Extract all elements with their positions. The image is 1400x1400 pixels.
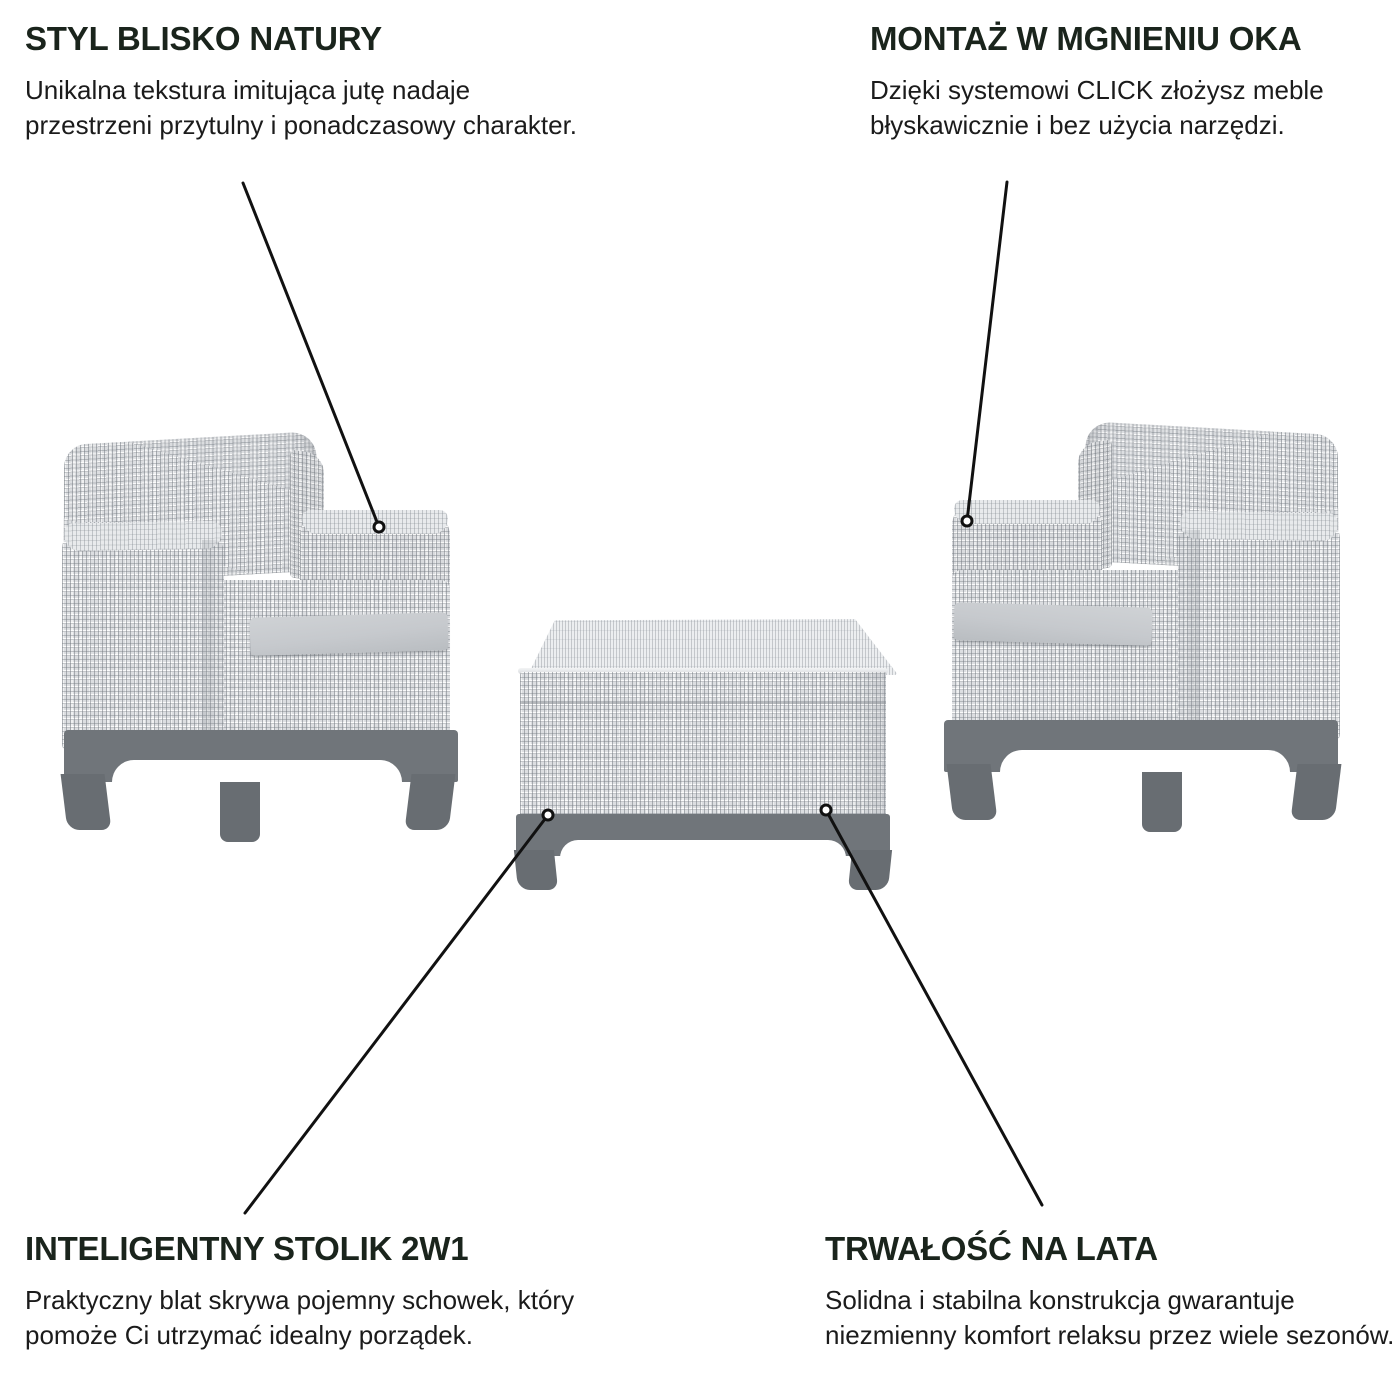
feature-top-left-heading: STYL BLISKO NATURY (25, 22, 585, 57)
feature-top-left: STYL BLISKO NATURY Unikalna tekstura imi… (25, 22, 585, 143)
armchair-left-leg-center (220, 782, 260, 842)
feature-bottom-right-body: Solidna i stabilna konstrukcja gwarantuj… (825, 1283, 1395, 1353)
armchair-left-armrest-near (62, 522, 224, 752)
armchair-right-leg-front-right (947, 764, 998, 820)
armchair-right-armrest-inner-shadow (1174, 530, 1200, 720)
feature-top-left-body: Unikalna tekstura imitująca jutę nadaje … (25, 73, 585, 143)
armchair-left-leg-front-right (405, 774, 456, 830)
coffee-table-side-shadow (844, 672, 886, 818)
coffee-table (508, 618, 898, 883)
feature-bottom-left-body: Praktyczny blat skrywa pojemny schowek, … (25, 1283, 645, 1353)
armchair-right (930, 420, 1350, 820)
armchair-right-cushion (954, 602, 1153, 646)
coffee-table-body (520, 672, 886, 818)
armchair-left-leg-front-left (61, 774, 112, 830)
feature-top-right-body: Dzięki systemowi CLICK złożysz meble bły… (870, 73, 1390, 143)
armchair-left (52, 430, 472, 830)
feature-bottom-right: TRWAŁOŚĆ NA LATA Solidna i stabilna kons… (825, 1232, 1395, 1353)
armchair-left-cushion (250, 612, 449, 656)
coffee-table-leg-left (514, 850, 558, 890)
feature-top-right-heading: MONTAŻ W MGNIENIU OKA (870, 22, 1390, 57)
armchair-left-armrest-inner-shadow (202, 540, 228, 730)
armchair-right-leg-center (1142, 772, 1182, 832)
armchair-right-armrest-near-top (1180, 511, 1338, 542)
infographic-page: STYL BLISKO NATURY Unikalna tekstura imi… (0, 0, 1400, 1400)
feature-bottom-left-heading: INTELIGENTNY STOLIK 2W1 (25, 1232, 645, 1267)
armchair-right-armrest-near (1178, 512, 1340, 742)
coffee-table-base-arch (560, 840, 846, 892)
armchair-right-leg-front-left (1291, 764, 1342, 820)
armchair-left-armrest-far-top (302, 510, 448, 534)
coffee-table-lid-seam (520, 702, 886, 704)
feature-bottom-left: INTELIGENTNY STOLIK 2W1 Praktyczny blat … (25, 1232, 645, 1353)
feature-bottom-right-heading: TRWAŁOŚĆ NA LATA (825, 1232, 1395, 1267)
coffee-table-leg-right (848, 850, 892, 890)
feature-top-right: MONTAŻ W MGNIENIU OKA Dzięki systemowi C… (870, 22, 1390, 143)
product-stage (0, 0, 1400, 1400)
armchair-left-armrest-near-top (64, 521, 222, 552)
armchair-right-armrest-far-top (954, 500, 1100, 524)
